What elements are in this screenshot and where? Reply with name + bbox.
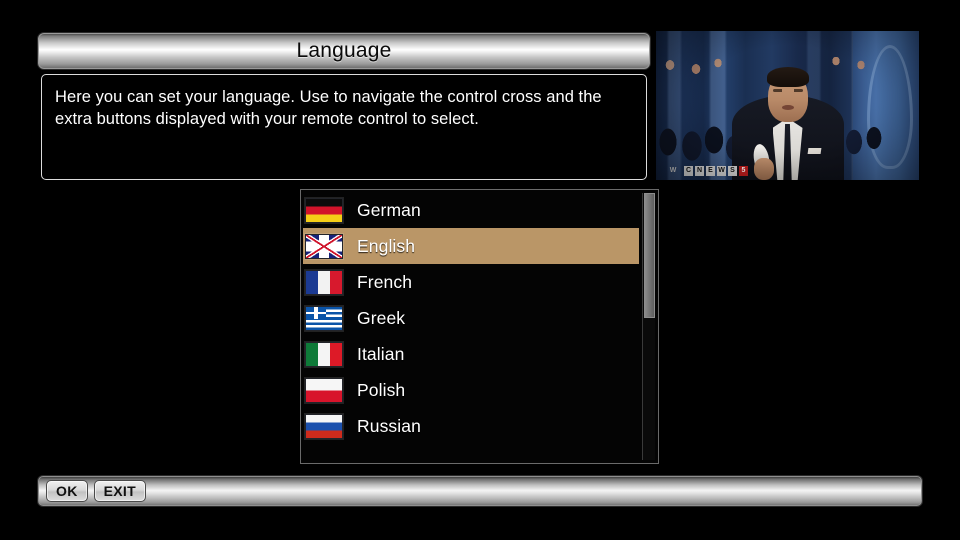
language-label: German	[357, 200, 421, 221]
language-list: German English French Greek Italian Poli	[303, 192, 639, 461]
ok-button[interactable]: OK	[46, 480, 88, 502]
language-label: Greek	[357, 308, 405, 329]
flag-russia-icon	[305, 414, 343, 439]
description-box: Here you can set your language. Use to n…	[41, 74, 647, 180]
list-item[interactable]: German	[303, 192, 639, 228]
flag-poland-icon	[305, 378, 343, 403]
page-title: Language	[296, 39, 391, 63]
list-item[interactable]: Greek	[303, 300, 639, 336]
language-label: Polish	[357, 380, 405, 401]
language-label: English	[357, 236, 415, 257]
exit-button[interactable]: EXIT	[94, 480, 146, 502]
video-still: W C N E W S 5	[656, 31, 919, 180]
video-vignette	[656, 31, 919, 180]
list-item[interactable]: French	[303, 264, 639, 300]
flag-greece-icon	[305, 306, 343, 331]
list-item[interactable]: Polish	[303, 372, 639, 408]
list-item-selected[interactable]: English	[303, 228, 639, 264]
language-label: French	[357, 272, 412, 293]
scrollbar-thumb[interactable]	[644, 193, 655, 318]
page-title-bar: Language	[38, 33, 650, 69]
list-item[interactable]: Italian	[303, 336, 639, 372]
video-preview[interactable]: W C N E W S 5	[656, 31, 919, 180]
description-text: Here you can set your language. Use to n…	[55, 86, 633, 130]
flag-italy-icon	[305, 342, 343, 367]
language-label: Italian	[357, 344, 404, 365]
action-bar: OK EXIT	[38, 476, 922, 506]
list-item[interactable]: Russian	[303, 408, 639, 444]
list-scrollbar[interactable]	[642, 193, 655, 460]
language-label: Russian	[357, 416, 421, 437]
flag-germany-icon	[305, 198, 343, 223]
language-list-panel: German English French Greek Italian Poli	[300, 189, 659, 464]
tv-settings-screen: Language Here you can set your language.…	[0, 0, 960, 540]
flag-united-kingdom-icon	[305, 234, 343, 259]
flag-france-icon	[305, 270, 343, 295]
